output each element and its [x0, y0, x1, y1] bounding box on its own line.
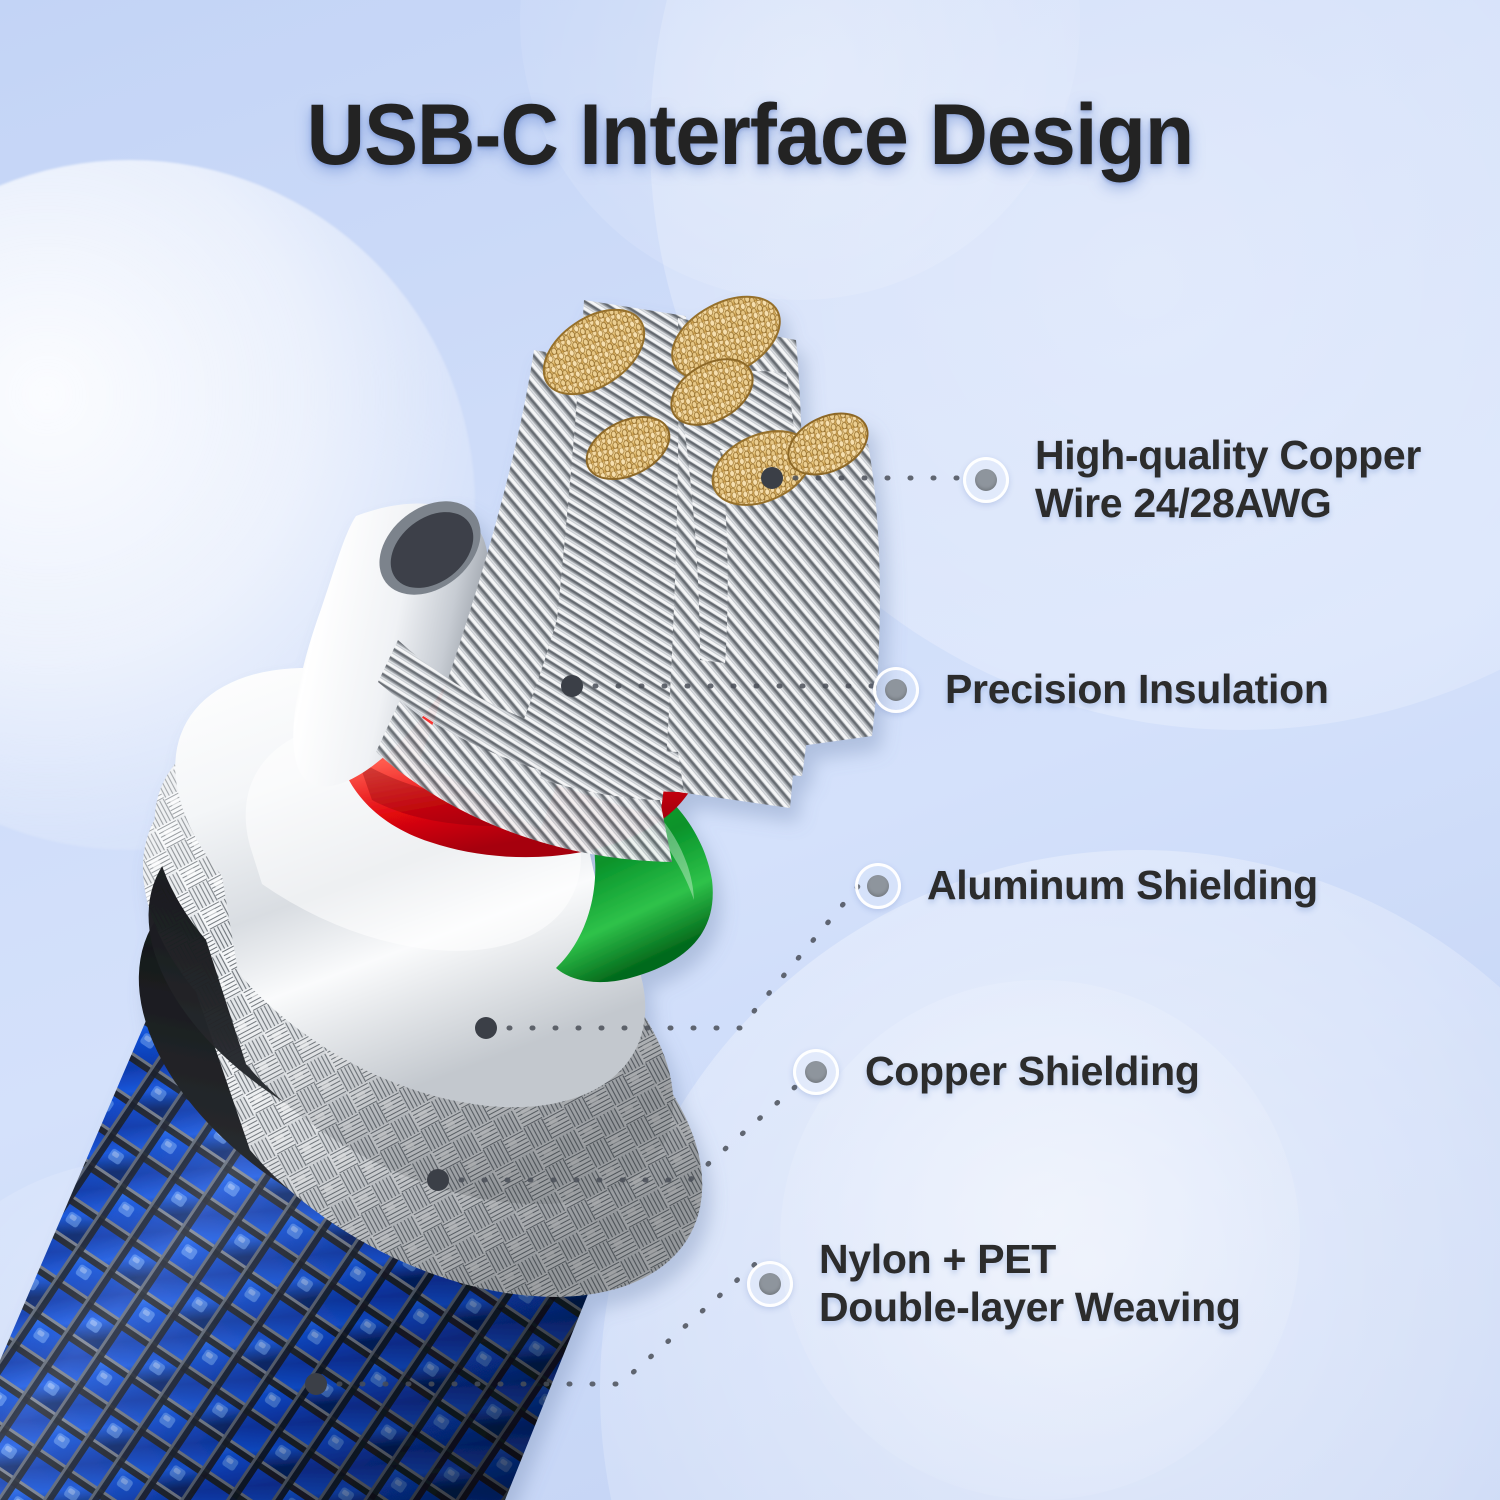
callout-label-line: Aluminum Shielding: [927, 862, 1318, 910]
callout-marker-icon: [963, 457, 1009, 503]
callout-marker-icon: [793, 1049, 839, 1095]
callout-aluminum-shielding[interactable]: Aluminum Shielding: [855, 862, 1318, 910]
callout-label-group: Aluminum Shielding: [927, 862, 1318, 910]
callout-label-group: Nylon + PET Double-layer Weaving: [819, 1236, 1241, 1332]
callout-precision-insulation[interactable]: Precision Insulation: [873, 666, 1329, 714]
callout-label-group: High-quality Copper Wire 24/28AWG: [1035, 432, 1421, 528]
callout-marker-icon: [747, 1261, 793, 1307]
callout-label-line: Precision Insulation: [945, 666, 1329, 714]
callout-label-group: Copper Shielding: [865, 1048, 1200, 1096]
callout-copper-shielding[interactable]: Copper Shielding: [793, 1048, 1200, 1096]
callout-label-line: Wire 24/28AWG: [1035, 480, 1421, 528]
callout-label-line: High-quality Copper: [1035, 432, 1421, 480]
callout-label-group: Precision Insulation: [945, 666, 1329, 714]
callout-marker-icon: [855, 863, 901, 909]
page-title: USB-C Interface Design: [45, 86, 1455, 185]
callout-copper-wire[interactable]: High-quality Copper Wire 24/28AWG: [963, 432, 1421, 528]
callout-label-line: Double-layer Weaving: [819, 1284, 1241, 1332]
infographic-canvas: USB-C Interface Design High-quality Copp…: [0, 0, 1500, 1500]
callout-marker-icon: [873, 667, 919, 713]
callout-label-line: Copper Shielding: [865, 1048, 1200, 1096]
callout-nylon-pet[interactable]: Nylon + PET Double-layer Weaving: [747, 1236, 1241, 1332]
callout-label-line: Nylon + PET: [819, 1236, 1241, 1284]
